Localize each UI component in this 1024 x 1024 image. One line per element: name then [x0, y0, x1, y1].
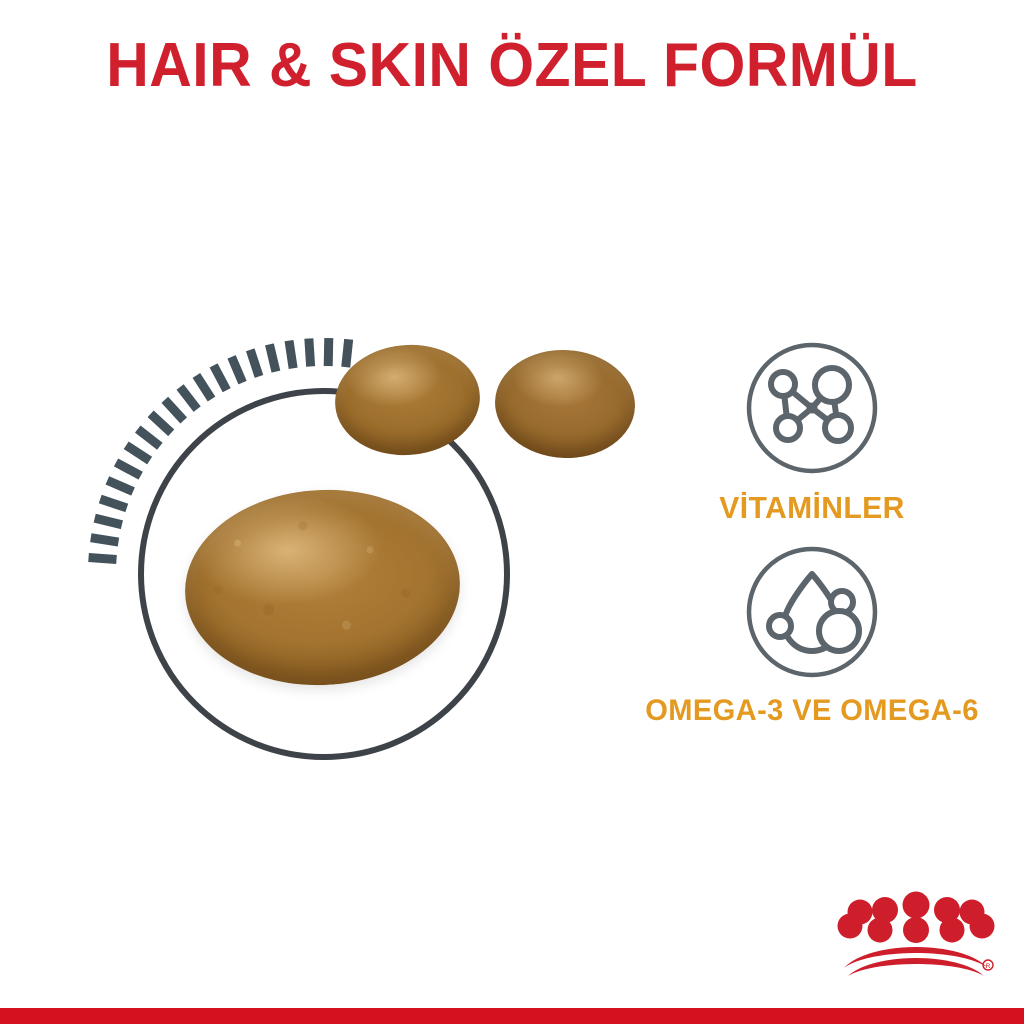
oil-droplet-icon [744, 544, 880, 680]
product-magnifier-group [40, 330, 680, 830]
feature-list: VİTAMİNLER OMEGA-3 VE OMEGA-6 [600, 340, 1024, 746]
feature-label-omega: OMEGA-3 VE OMEGA-6 [606, 694, 1017, 728]
svg-text:R: R [986, 963, 991, 970]
royal-canin-crown-logo: R [836, 886, 996, 978]
page-title: HAIR & SKIN ÖZEL FORMÜL [26, 30, 999, 101]
molecule-icon [744, 340, 880, 476]
feature-item-vitamins: VİTAMİNLER [600, 340, 1024, 526]
feature-label-vitamins: VİTAMİNLER [606, 490, 1017, 526]
feature-item-omega: OMEGA-3 VE OMEGA-6 [600, 544, 1024, 728]
poster-canvas: HAIR & SKIN ÖZEL FORMÜL [0, 0, 1024, 1024]
bottom-accent-bar [0, 1008, 1024, 1024]
